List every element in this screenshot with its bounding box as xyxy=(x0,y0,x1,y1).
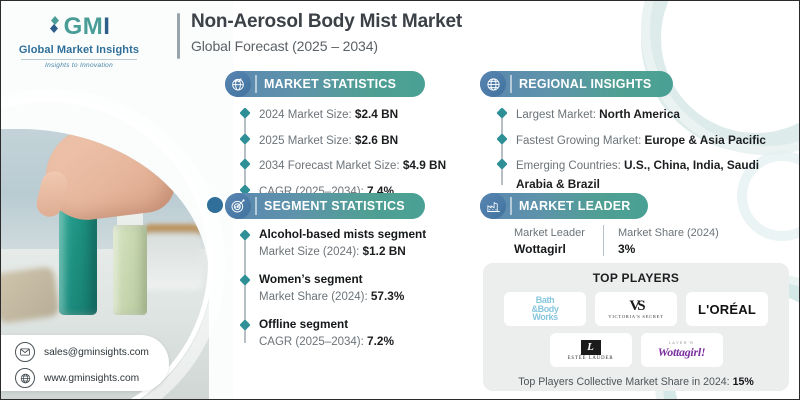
section-label: SEGMENT STATISTICS xyxy=(264,199,405,213)
item-label: 2024 Market Size: xyxy=(259,109,355,121)
el-monogram: L xyxy=(581,340,601,355)
list-item: Largest Market: North America xyxy=(498,105,788,124)
bullet-diamond-icon xyxy=(239,274,250,285)
decorative-dot xyxy=(207,197,223,213)
vs-monogram: VS xyxy=(608,299,663,314)
bbw-line-3: Works xyxy=(532,313,559,322)
bullet-diamond-icon xyxy=(239,133,250,144)
logo-company-name: Global Market Insights xyxy=(15,44,143,56)
pill-divider xyxy=(510,75,512,93)
page-title: Non-Aerosol Body Mist Market xyxy=(191,11,462,33)
section-pill-market-leader[interactable]: MARKET LEADER xyxy=(480,193,648,219)
market-statistics-list: 2024 Market Size: $2.4 BN 2025 Market Si… xyxy=(241,105,451,200)
item-label: 2025 Market Size: xyxy=(259,135,355,147)
player-logo-bath-and-body-works[interactable]: Bath &Body Works xyxy=(504,292,586,326)
contact-email-row[interactable]: sales@gminsights.com xyxy=(15,342,169,362)
item-value: $2.6 BN xyxy=(355,133,398,147)
contact-strip: sales@gminsights.com www.gminsights.com xyxy=(1,335,169,391)
section-label: REGIONAL INSIGHTS xyxy=(519,77,652,91)
market-share-label: Market Share (2024) xyxy=(618,225,719,242)
item-value: North America xyxy=(599,107,680,121)
segment-statistics-list: Alcohol-based mists segment Market Size … xyxy=(241,227,456,351)
item-label: Market Size (2024): xyxy=(259,246,363,258)
title-accent-bar xyxy=(177,13,180,59)
item-label: 2034 Forecast Market Size: xyxy=(259,160,403,172)
list-item: Emerging Countries: U.S., China, India, … xyxy=(498,156,788,193)
bullet-diamond-icon xyxy=(239,229,250,240)
section-pill-segment-statistics[interactable]: SEGMENT STATISTICS xyxy=(225,193,425,219)
bullet-diamond-icon xyxy=(496,133,507,144)
bullet-diamond-icon xyxy=(239,158,250,169)
list-item: 2024 Market Size: $2.4 BN xyxy=(241,105,451,124)
market-share-column: Market Share (2024) 3% xyxy=(603,225,719,256)
list-item: 2025 Market Size: $2.6 BN xyxy=(241,131,451,150)
top-players-card: TOP PLAYERS Bath &Body Works VS VICTORIA… xyxy=(483,263,789,391)
list-item: Alcohol-based mists segment Market Size … xyxy=(241,227,456,261)
target-chart-icon xyxy=(225,193,251,219)
factory-icon xyxy=(480,193,506,219)
market-leader-column: Market Leader Wottagirl xyxy=(514,225,603,256)
list-item: Offline segment CAGR (2025–2034): 7.2% xyxy=(241,317,456,351)
gmi-logo[interactable]: GMI Global Market Insights Insights to I… xyxy=(15,15,143,69)
logo-divider xyxy=(21,59,137,60)
market-leader-label: Market Leader xyxy=(514,225,585,242)
section-pill-market-statistics[interactable]: MARKET STATISTICS xyxy=(225,71,425,97)
wottagirl-wordmark: LAYER'R Wottagirl! xyxy=(658,342,705,358)
top-players-title: TOP PLAYERS xyxy=(483,263,789,285)
globe-icon xyxy=(480,71,506,97)
top-players-footer-label: Top Players Collective Market Share in 2… xyxy=(518,376,732,388)
bullet-diamond-icon xyxy=(496,107,507,118)
market-leader-value: Wottagirl xyxy=(514,242,585,256)
item-value: $2.4 BN xyxy=(355,107,398,121)
globe-icon xyxy=(15,368,35,388)
wottagirl-name: Wottagirl! xyxy=(658,346,705,358)
photo-blurred-jar xyxy=(141,232,203,290)
top-players-row-1: Bath &Body Works VS VICTORIA'S SECRET L'… xyxy=(483,292,789,326)
market-leader-block: Market Leader Wottagirl Market Share (20… xyxy=(514,225,719,256)
pill-divider xyxy=(255,197,257,215)
item-value: 57.3% xyxy=(371,289,404,303)
logo-i: I xyxy=(103,13,110,40)
list-item: Women’s segment Market Share (2024): 57.… xyxy=(241,272,456,306)
globe-chart-icon xyxy=(225,71,251,97)
player-logo-estee-lauder[interactable]: L ESTÉE LAUDER xyxy=(550,333,632,367)
item-label: Market Share (2024): xyxy=(259,291,371,303)
pill-divider xyxy=(510,197,512,215)
top-players-footer-value: 15% xyxy=(733,376,754,388)
el-caption: ESTÉE LAUDER xyxy=(568,357,614,362)
item-value: Europe & Asia Pacific xyxy=(644,133,766,147)
regional-insights-list: Largest Market: North America Fastest Gr… xyxy=(498,105,788,193)
contact-website: www.gminsights.com xyxy=(44,373,139,384)
pill-divider xyxy=(255,75,257,93)
section-pill-regional-insights[interactable]: REGIONAL INSIGHTS xyxy=(480,71,673,97)
bottle-primary xyxy=(59,207,97,315)
diamond-icon xyxy=(48,15,62,40)
list-rail xyxy=(244,112,246,192)
player-logo-wottagirl[interactable]: LAYER'R Wottagirl! xyxy=(641,333,723,367)
title-block: Non-Aerosol Body Mist Market Global Fore… xyxy=(177,11,462,54)
item-value: $1.2 BN xyxy=(363,244,406,258)
item-value: $4.9 BN xyxy=(403,158,446,172)
item-label: CAGR (2025–2034): xyxy=(259,336,367,348)
item-label: Emerging Countries: xyxy=(516,160,624,172)
contact-email: sales@gminsights.com xyxy=(44,347,149,358)
loreal-wordmark: L'ORÉAL xyxy=(698,302,756,317)
bullet-diamond-icon xyxy=(239,107,250,118)
victorias-secret-wordmark: VS VICTORIA'S SECRET xyxy=(608,299,663,320)
photo-blurred-object-left xyxy=(1,266,60,324)
top-players-row-2: L ESTÉE LAUDER LAYER'R Wottagirl! xyxy=(483,333,789,367)
item-value: 7.2% xyxy=(367,334,394,348)
infographic-canvas: GMI Global Market Insights Insights to I… xyxy=(0,0,800,400)
vs-caption: VICTORIA'S SECRET xyxy=(608,315,663,320)
player-logo-victorias-secret[interactable]: VS VICTORIA'S SECRET xyxy=(595,292,677,326)
top-players-footer: Top Players Collective Market Share in 2… xyxy=(483,376,789,388)
item-heading: Women’s segment xyxy=(259,272,456,287)
bullet-diamond-icon xyxy=(239,319,250,330)
bullet-diamond-icon xyxy=(496,158,507,169)
page-subtitle: Global Forecast (2025 – 2034) xyxy=(191,38,462,54)
item-heading: Offline segment xyxy=(259,317,456,332)
envelope-icon xyxy=(15,342,35,362)
list-item: Fastest Growing Market: Europe & Asia Pa… xyxy=(498,131,788,150)
item-label: Largest Market: xyxy=(516,109,599,121)
contact-website-row[interactable]: www.gminsights.com xyxy=(15,368,169,388)
list-item: 2034 Forecast Market Size: $4.9 BN xyxy=(241,156,451,175)
logo-tagline: Insights to Innovation xyxy=(15,62,143,69)
market-share-value: 3% xyxy=(618,242,719,256)
bottle-secondary xyxy=(113,225,147,315)
section-label: MARKET LEADER xyxy=(519,199,631,213)
estee-lauder-wordmark: L ESTÉE LAUDER xyxy=(568,338,614,362)
logo-gm: GM xyxy=(64,13,104,40)
bath-body-works-wordmark: Bath &Body Works xyxy=(532,296,559,322)
player-logo-loreal[interactable]: L'ORÉAL xyxy=(686,292,768,326)
item-heading: Alcohol-based mists segment xyxy=(259,227,456,242)
section-label: MARKET STATISTICS xyxy=(264,77,396,91)
item-label: Fastest Growing Market: xyxy=(516,135,644,147)
logo-wordmark: GMI xyxy=(15,15,143,40)
